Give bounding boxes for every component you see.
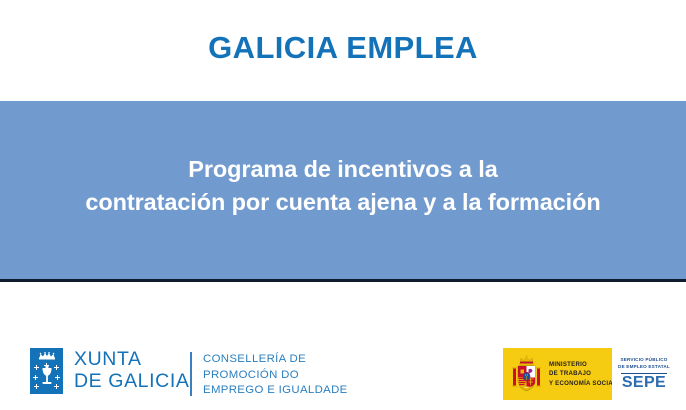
program-banner: Programa de incentivos a la contratación… [0,101,686,279]
xunta-wordmark-line-1: XUNTA [74,349,189,371]
ministerio-line-2: DE TRABAJO [549,369,617,378]
cross-icon-3 [54,365,59,370]
logo-divider [190,352,192,396]
conselleria-line-1: CONSELLERÍA DE [203,352,348,368]
sepe-acronym: SEPE [622,375,666,391]
page-title: GALICIA EMPLEA [208,32,478,63]
xunta-wordmark-line-2: DE GALICIA [74,371,189,393]
ministerio-line-1: MINISTERIO [549,360,617,369]
crown-icon [38,352,55,360]
conselleria-line-2: PROMOCIÓN DO [203,368,348,384]
chalice-icon [40,365,53,387]
xunta-de-galicia-logo: XUNTA DE GALICIA [30,348,189,394]
banner-text-block: Programa de incentivos a la contratación… [0,153,686,220]
sepe-subtitle: SERVICIO PÚBLICO DE EMPLEO ESTATAL [618,357,670,370]
xunta-wordmark: XUNTA DE GALICIA [74,349,189,393]
sepe-logo: SERVICIO PÚBLICO DE EMPLEO ESTATAL SEPE [612,348,676,400]
banner-line-2: contratación por cuenta ajena y a la for… [0,186,686,219]
banner-line-1: Programa de incentivos a la [0,153,686,186]
cross-icon-2 [44,363,49,368]
cross-icon-5 [55,375,60,380]
conselleria-line-3: EMPREGO E IGUALDADE [203,383,348,399]
conselleria-label: CONSELLERÍA DE PROMOCIÓN DO EMPREGO E IG… [203,352,348,399]
ministerio-line-3: Y ECONOMÍA SOCIAL [549,379,617,388]
cross-icon-1 [34,365,39,370]
header-area: GALICIA EMPLEA [0,0,686,101]
sepe-subtitle-line-2: DE EMPLEO ESTATAL [618,364,670,371]
sepe-subtitle-line-1: SERVICIO PÚBLICO [618,357,670,364]
cross-icon-6 [34,384,39,389]
ministerio-wordmark: MINISTERIO DE TRABAJO Y ECONOMÍA SOCIAL [549,360,617,388]
galicia-coat-of-arms-icon [30,348,63,394]
cross-icon-4 [33,375,38,380]
spain-coat-of-arms-icon [510,354,543,394]
spain-shield-svg [510,354,543,394]
ministerio-logo: MINISTERIO DE TRABAJO Y ECONOMÍA SOCIAL … [503,348,676,400]
footer-logo-bar: XUNTA DE GALICIA CONSELLERÍA DE PROMOCIÓ… [0,282,686,410]
cross-icon-7 [54,384,59,389]
